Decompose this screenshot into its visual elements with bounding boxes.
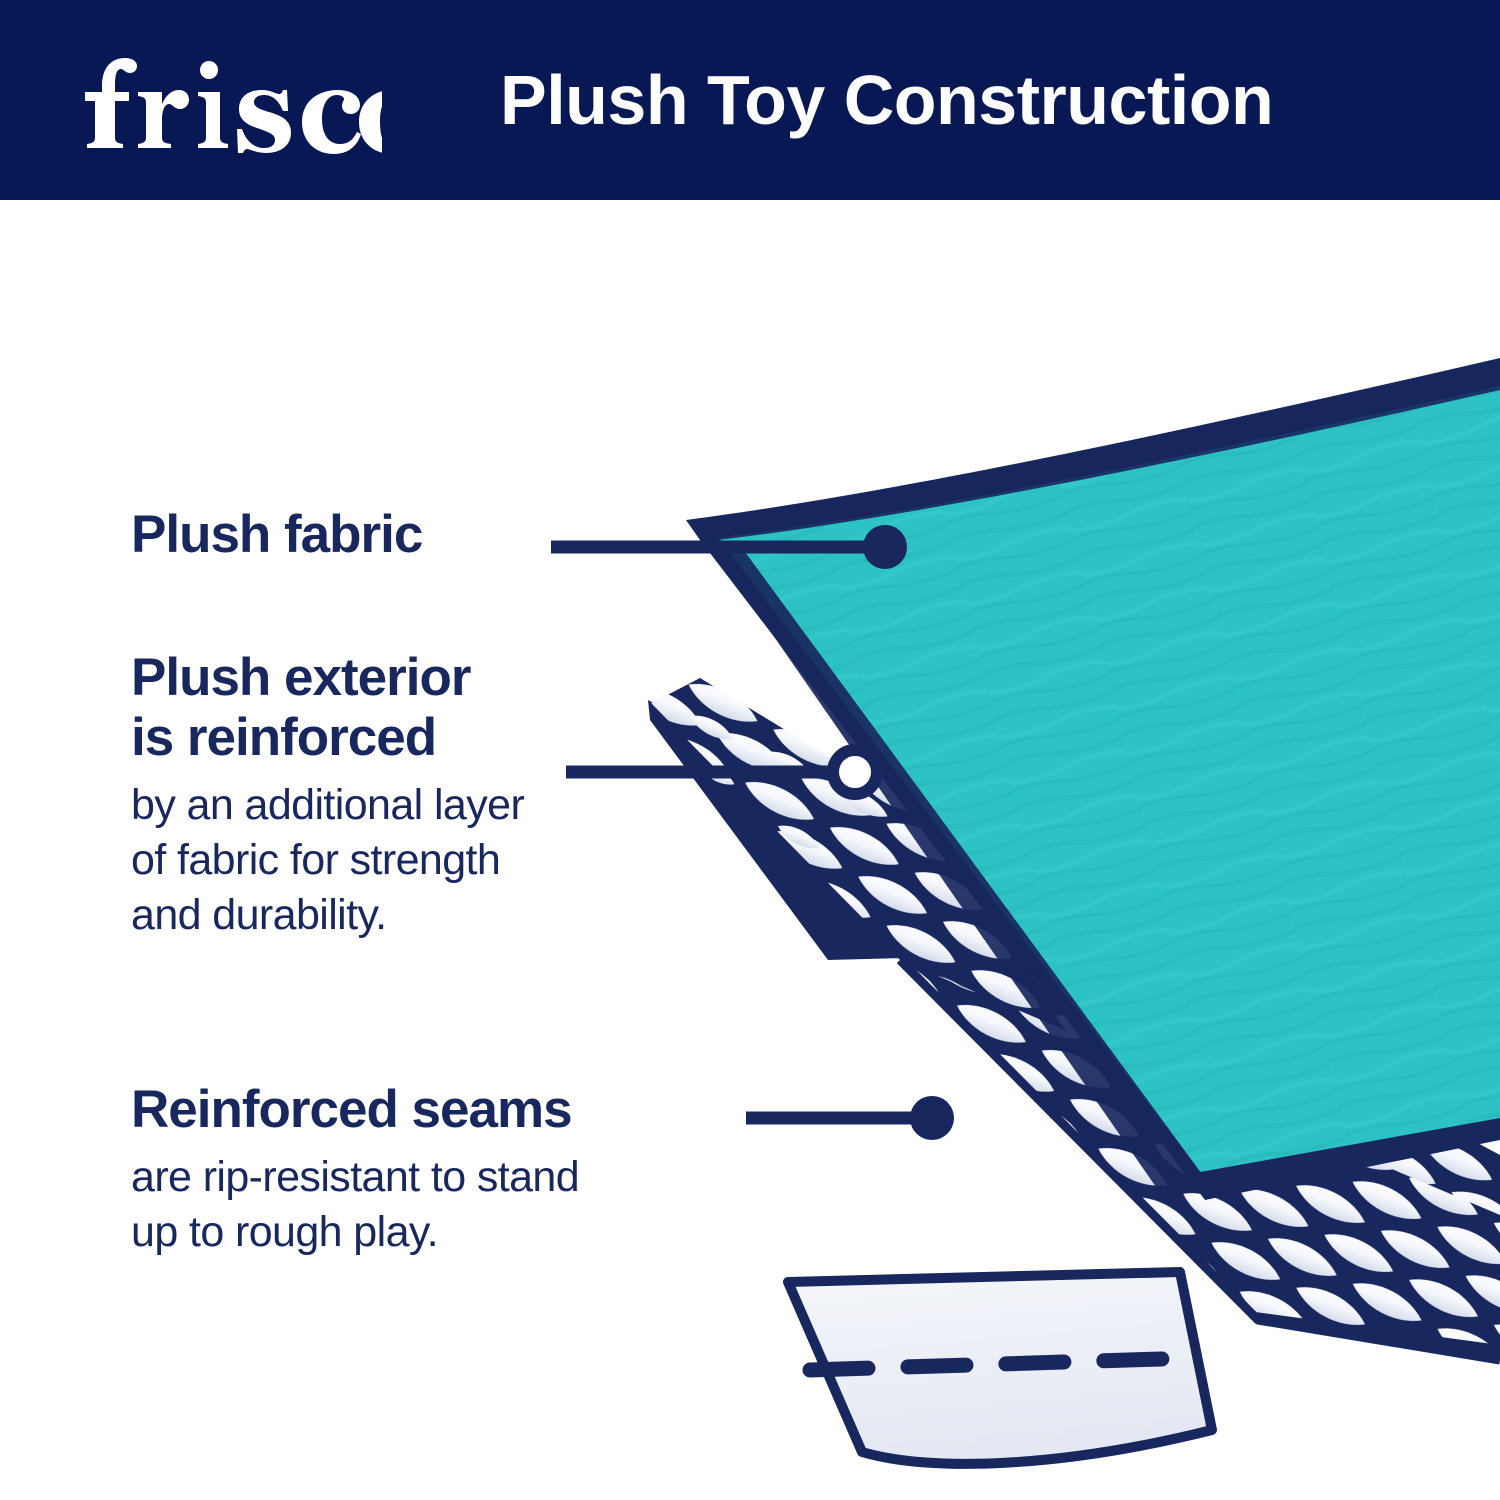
- marker-dot-plush-fabric: [863, 525, 907, 569]
- callout-body-line: of fabric for strength: [131, 833, 524, 888]
- header-band: R Plush Toy Construction: [0, 0, 1500, 200]
- callout-heading-line: is reinforced: [131, 708, 524, 768]
- callout-plush-fabric: Plush fabric: [131, 505, 422, 565]
- callout-reinforced-seams: Reinforced seams are rip-resistant to st…: [131, 1080, 579, 1260]
- frisco-logo: R: [82, 46, 382, 154]
- infographic-root: R Plush Toy Construction: [0, 0, 1500, 1500]
- callout-body-line: up to rough play.: [131, 1205, 579, 1260]
- callout-heading-line: Plush fabric: [131, 505, 422, 565]
- callout-heading-line: Reinforced seams: [131, 1080, 579, 1140]
- marker-dot-reinforced-seams: [910, 1096, 954, 1140]
- page-title: Plush Toy Construction: [500, 0, 1400, 200]
- callout-heading-line: Plush exterior: [131, 648, 524, 708]
- callout-body-line: by an additional layer: [131, 778, 524, 833]
- callout-body-line: and durability.: [131, 888, 524, 943]
- reinforced-seam-flap: [788, 1272, 1212, 1464]
- callout-body-line: are rip-resistant to stand: [131, 1150, 579, 1205]
- marker-ring-plush-exterior: [833, 750, 877, 794]
- callout-plush-exterior: Plush exterior is reinforced by an addit…: [131, 648, 524, 943]
- leader-line-reinforced-seams: [746, 1096, 954, 1140]
